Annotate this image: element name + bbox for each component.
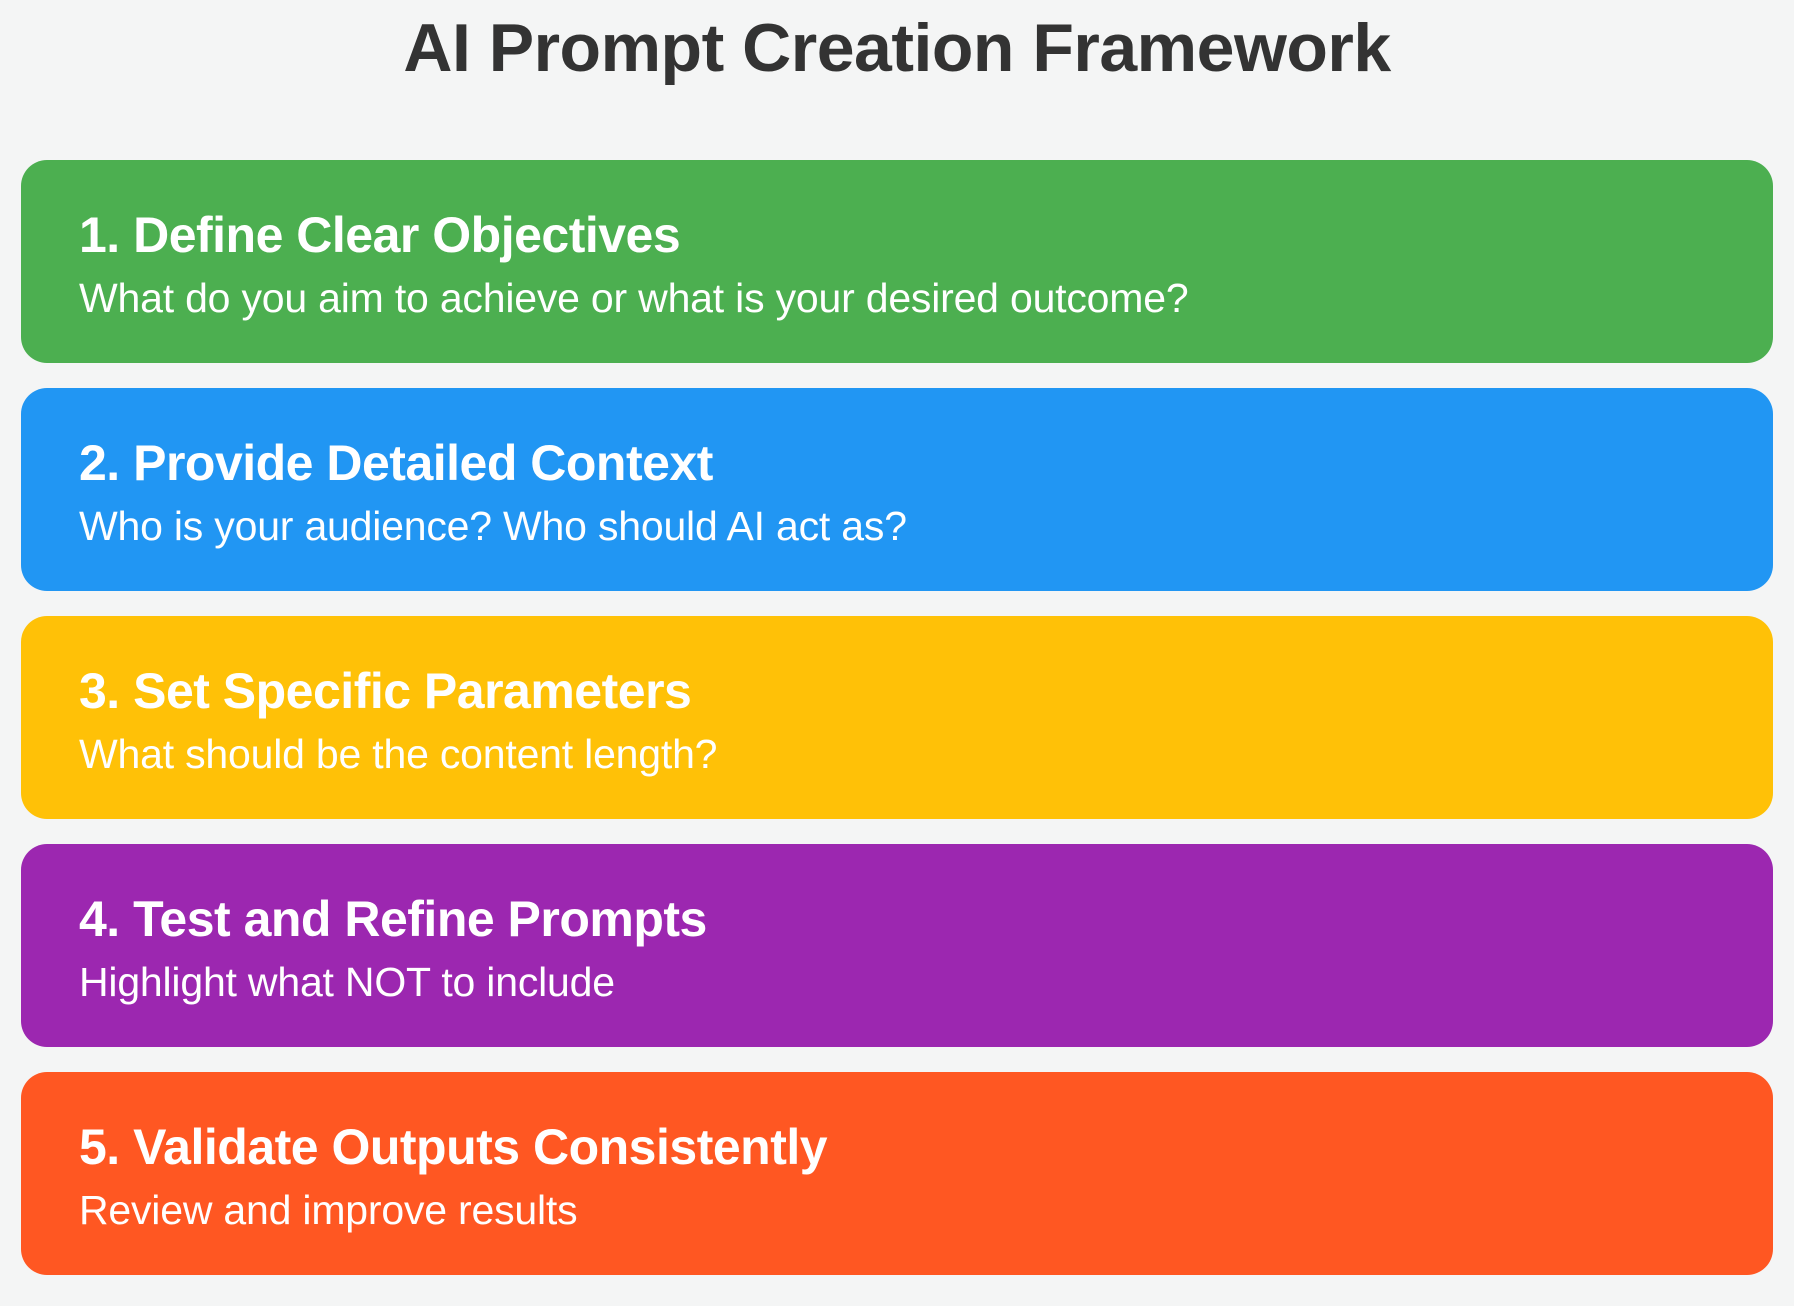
- step-card-title: 2. Provide Detailed Context: [79, 436, 1733, 490]
- framework-step-card[interactable]: 4. Test and Refine Prompts Highlight wha…: [21, 844, 1773, 1047]
- page-title: AI Prompt Creation Framework: [0, 0, 1794, 96]
- step-card-subtitle: Highlight what NOT to include: [79, 960, 1733, 1004]
- step-card-subtitle: What should be the content length?: [79, 732, 1733, 776]
- framework-step-list: 1. Define Clear Objectives What do you a…: [21, 96, 1773, 1275]
- step-card-title: 1. Define Clear Objectives: [79, 208, 1733, 262]
- step-card-title: 5. Validate Outputs Consistently: [79, 1120, 1733, 1174]
- framework-step-card[interactable]: 1. Define Clear Objectives What do you a…: [21, 160, 1773, 363]
- framework-step-card[interactable]: 3. Set Specific Parameters What should b…: [21, 616, 1773, 819]
- step-card-title: 4. Test and Refine Prompts: [79, 892, 1733, 946]
- framework-step-card[interactable]: 2. Provide Detailed Context Who is your …: [21, 388, 1773, 591]
- step-card-subtitle: What do you aim to achieve or what is yo…: [79, 276, 1733, 320]
- step-card-subtitle: Who is your audience? Who should AI act …: [79, 504, 1733, 548]
- framework-infographic: AI Prompt Creation Framework 1. Define C…: [0, 0, 1794, 1306]
- framework-step-card[interactable]: 5. Validate Outputs Consistently Review …: [21, 1072, 1773, 1275]
- step-card-title: 3. Set Specific Parameters: [79, 664, 1733, 718]
- step-card-subtitle: Review and improve results: [79, 1188, 1733, 1232]
